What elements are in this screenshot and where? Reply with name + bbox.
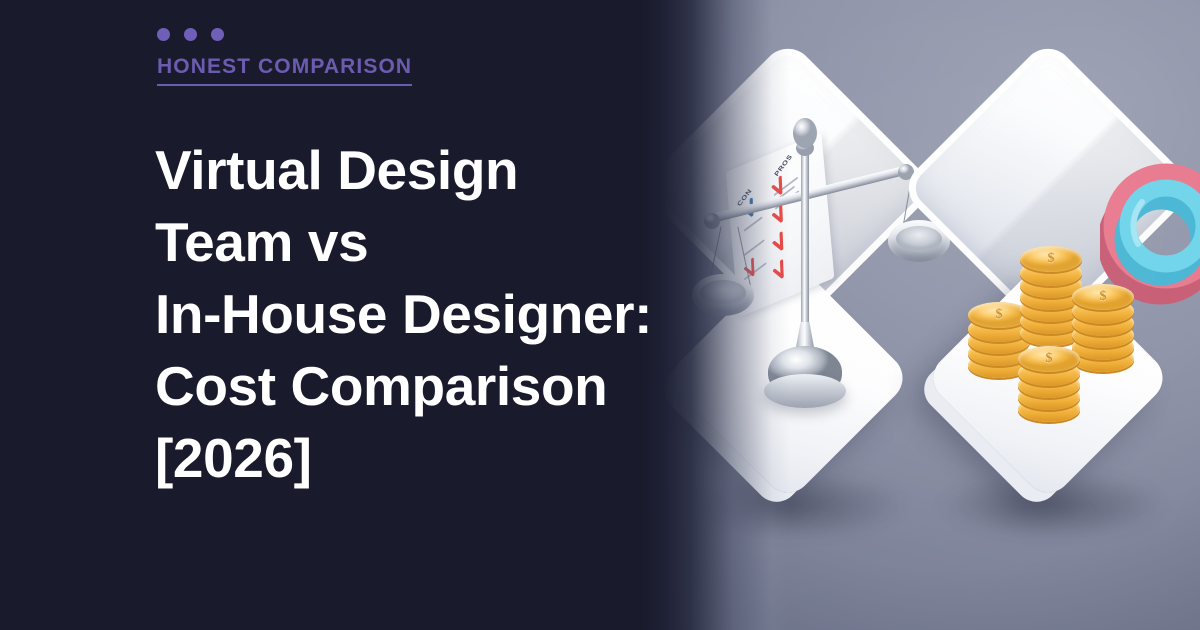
title-line: In-House Designer: (155, 278, 685, 350)
dot-icon (157, 28, 170, 41)
check-mark-red-icon (770, 258, 791, 284)
coin-dollar-symbol: $ (1072, 289, 1134, 305)
scale-knob-top (793, 118, 817, 148)
checklist-header-pros: PROS (774, 154, 794, 178)
title-line: Team vs (155, 206, 685, 278)
checklist-rule (744, 239, 765, 255)
dot-icon (184, 28, 197, 41)
scale-base-foot (764, 374, 846, 408)
decorative-dots (157, 28, 224, 41)
page-title: Virtual Design Team vs In-House Designer… (155, 134, 685, 494)
check-mark-red-icon (770, 230, 791, 256)
scale-pan-inner (700, 280, 746, 306)
coin-dollar-symbol: $ (1018, 351, 1080, 367)
title-line: Cost Comparison (155, 350, 685, 422)
balance-scale: CON PROS (660, 40, 960, 600)
cost-coins-scene: $ $ $ (920, 40, 1200, 600)
scale-post (801, 132, 809, 332)
text-column: HONEST COMPARISON Virtual Design Team vs… (0, 0, 660, 630)
coin-dollar-symbol: $ (1020, 251, 1082, 267)
scale-pan-left (692, 274, 754, 316)
title-line: [2026] (155, 422, 685, 494)
dot-icon (211, 28, 224, 41)
hero-canvas: CON PROS (0, 0, 1200, 630)
illustration-panel: CON PROS (640, 0, 1200, 630)
balance-scale-scene: CON PROS (660, 40, 960, 600)
title-line: Virtual Design (155, 134, 685, 206)
scale-beam-cap-left (704, 213, 720, 229)
coin-face: $ (1018, 346, 1080, 372)
coin-face: $ (1020, 246, 1082, 272)
eyebrow-label: HONEST COMPARISON (157, 55, 412, 86)
coin-face: $ (1072, 284, 1134, 310)
